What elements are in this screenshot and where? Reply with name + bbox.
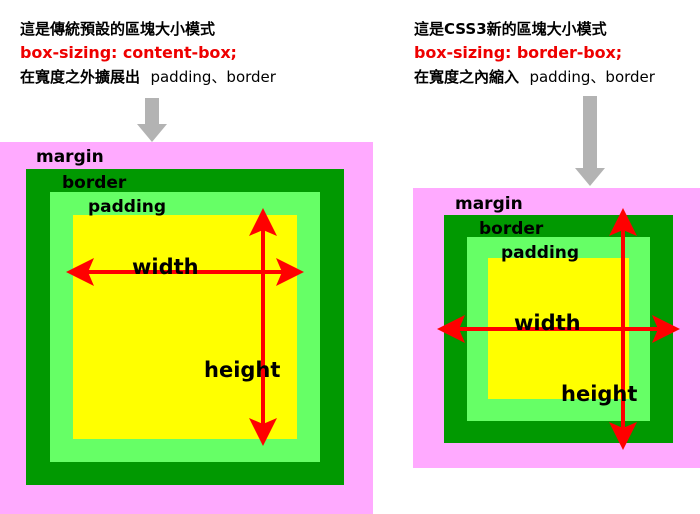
down-arrow-icon-right <box>575 96 605 186</box>
arrow-head <box>137 124 167 142</box>
arrow-stem <box>145 98 159 126</box>
label-height-left: height <box>204 360 280 381</box>
diagram-content-box: margin border padding width height <box>0 142 373 514</box>
caption-right-line-3: 在寬度之內縮入 padding、border <box>414 66 655 89</box>
box-model-illustration: 這是傳統預設的區塊大小模式 box-sizing: content-box; 在… <box>0 0 700 514</box>
caption-left-line-1: 這是傳統預設的區塊大小模式 <box>20 18 276 41</box>
label-width-right: width <box>514 313 581 334</box>
label-border-right: border <box>479 221 543 238</box>
arrow-stem <box>583 96 597 170</box>
caption-right-code: box-sizing: border-box; <box>414 41 655 66</box>
caption-left-line-3-thin: padding、border <box>150 68 275 86</box>
caption-content-box: 這是傳統預設的區塊大小模式 box-sizing: content-box; 在… <box>20 18 276 89</box>
label-margin-left: margin <box>36 149 104 166</box>
label-margin-right: margin <box>455 196 523 213</box>
label-height-right: height <box>561 384 637 405</box>
diagram-border-box: margin border padding width height <box>413 188 700 468</box>
label-padding-right: padding <box>501 245 579 262</box>
label-border-left: border <box>62 175 126 192</box>
caption-left-line-3: 在寬度之外擴展出 padding、border <box>20 66 276 89</box>
caption-right-line-3-thin: padding、border <box>529 68 654 86</box>
caption-left-line-3-bold: 在寬度之外擴展出 <box>20 68 140 86</box>
label-width-left: width <box>132 257 199 278</box>
caption-right-line-3-bold: 在寬度之內縮入 <box>414 68 519 86</box>
content-area-left <box>73 215 297 439</box>
label-padding-left: padding <box>88 199 166 216</box>
caption-right-line-1: 這是CSS3新的區塊大小模式 <box>414 18 655 41</box>
down-arrow-icon-left <box>137 98 167 142</box>
arrow-head <box>575 168 605 186</box>
caption-border-box: 這是CSS3新的區塊大小模式 box-sizing: border-box; 在… <box>414 18 655 89</box>
caption-left-code: box-sizing: content-box; <box>20 41 276 66</box>
